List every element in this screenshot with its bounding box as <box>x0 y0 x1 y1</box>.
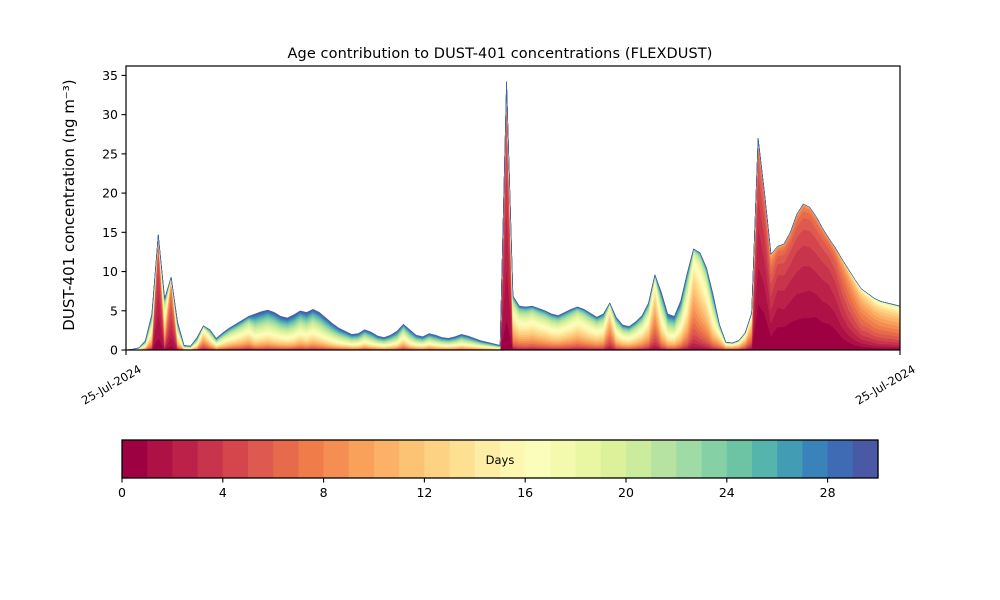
y-tick-label: 25 <box>102 146 118 161</box>
colorbar-swatch-23[interactable] <box>702 440 728 478</box>
y-tick-label: 20 <box>102 186 118 201</box>
colorbar-swatch-28[interactable] <box>828 440 854 478</box>
colorbar-swatch-29[interactable] <box>853 440 879 478</box>
colorbar-swatch-5[interactable] <box>248 440 274 478</box>
colorbar-swatch-24[interactable] <box>727 440 753 478</box>
colorbar-swatch-7[interactable] <box>298 440 324 478</box>
colorbar-swatch-13[interactable] <box>450 440 476 478</box>
colorbar-tick-label: 12 <box>416 485 432 500</box>
colorbar-swatch-8[interactable] <box>324 440 350 478</box>
colorbar-tick-label: 28 <box>820 485 836 500</box>
page-title: Age contribution to DUST-401 concentrati… <box>0 46 1000 62</box>
colorbar-swatch-4[interactable] <box>223 440 249 478</box>
colorbar-swatch-20[interactable] <box>626 440 652 478</box>
colorbar-tick-label: 0 <box>118 485 126 500</box>
colorbar-tick-label: 16 <box>517 485 533 500</box>
colorbar-swatch-0[interactable] <box>122 440 148 478</box>
y-tick-label: 5 <box>110 303 118 318</box>
colorbar-tick-label: 4 <box>219 485 227 500</box>
colorbar-swatch-2[interactable] <box>172 440 198 478</box>
colorbar-swatch-6[interactable] <box>273 440 299 478</box>
y-tick-label: 0 <box>110 343 118 358</box>
colorbar-swatch-27[interactable] <box>802 440 828 478</box>
colorbar-swatch-16[interactable] <box>525 440 551 478</box>
colorbar-swatch-19[interactable] <box>601 440 627 478</box>
colorbar-tick-label: 8 <box>320 485 328 500</box>
y-tick-label: 35 <box>102 68 118 83</box>
stacked-area-plot: 05101520253035 <box>0 0 1000 600</box>
colorbar-swatch-25[interactable] <box>752 440 778 478</box>
colorbar <box>122 440 879 483</box>
colorbar-swatch-3[interactable] <box>198 440 224 478</box>
y-axis: 05101520253035 <box>102 68 126 358</box>
colorbar-swatch-18[interactable] <box>576 440 602 478</box>
colorbar-swatch-21[interactable] <box>651 440 677 478</box>
colorbar-tick-label: 24 <box>719 485 735 500</box>
colorbar-swatch-14[interactable] <box>475 440 501 478</box>
colorbar-swatch-11[interactable] <box>399 440 425 478</box>
colorbar-swatch-1[interactable] <box>147 440 173 478</box>
colorbar-swatch-10[interactable] <box>374 440 400 478</box>
colorbar-swatch-26[interactable] <box>777 440 803 478</box>
figure-canvas: Age contribution to DUST-401 concentrati… <box>0 0 1000 600</box>
x-axis <box>126 350 900 355</box>
y-tick-label: 15 <box>102 225 118 240</box>
area-band-group <box>126 82 900 350</box>
y-tick-label: 10 <box>102 264 118 279</box>
colorbar-swatch-9[interactable] <box>349 440 375 478</box>
colorbar-swatch-12[interactable] <box>424 440 450 478</box>
colorbar-swatch-17[interactable] <box>550 440 576 478</box>
y-tick-label: 30 <box>102 107 118 122</box>
y-axis-label: DUST-401 concentration (ng m⁻³) <box>60 40 78 370</box>
colorbar-tick-label: 20 <box>618 485 634 500</box>
colorbar-swatch-15[interactable] <box>500 440 526 478</box>
colorbar-swatch-22[interactable] <box>676 440 702 478</box>
